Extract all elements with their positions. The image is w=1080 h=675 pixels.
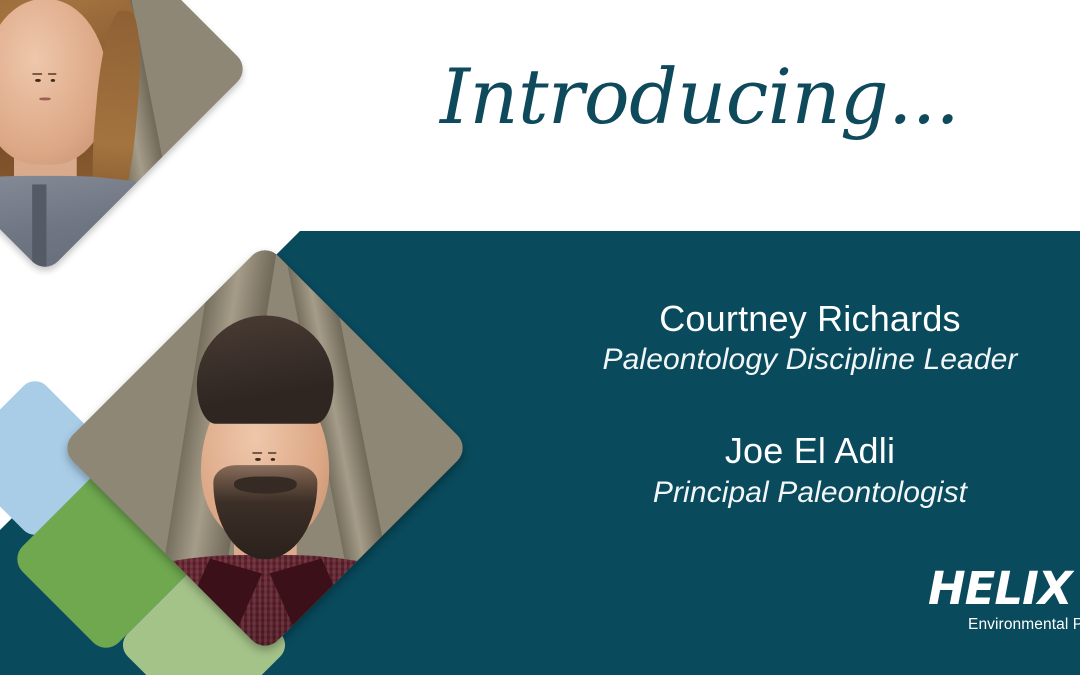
eye (270, 457, 275, 460)
person-job-title: Principal Paleontologist (560, 475, 1060, 511)
eye (35, 78, 40, 81)
person-entry-joe-el-adli: Joe El Adli Principal Paleontologist (560, 430, 1060, 510)
eyebrow (48, 73, 57, 75)
shirt-placket (33, 185, 47, 274)
eye (50, 78, 55, 81)
slide-headline: Introducing... (440, 56, 890, 138)
eyebrow (268, 452, 277, 454)
person-name: Courtney Richards (560, 298, 1060, 340)
slide-canvas: Introducing... Courtney Richards Paleont… (0, 0, 1080, 675)
helix-logo: HELIX Environmental Pl (928, 566, 1080, 633)
eye (255, 457, 260, 460)
helix-tagline: Environmental Pl (968, 617, 1080, 633)
person-entry-courtney-richards: Courtney Richards Paleontology Disciplin… (560, 298, 1060, 378)
eyebrow (253, 452, 262, 454)
hair (197, 316, 333, 423)
portrait-photo-inner (0, 0, 250, 274)
person-job-title: Paleontology Discipline Leader (560, 342, 1060, 378)
person-name: Joe El Adli (560, 430, 1060, 472)
portrait-photo-courtney-richards (0, 0, 250, 274)
mustache (234, 477, 296, 494)
person-figure (0, 0, 250, 274)
mouth (39, 98, 51, 101)
helix-wordmark: HELIX (928, 566, 1080, 611)
portrait-scene (0, 0, 250, 274)
people-text-block: Courtney Richards Paleontology Disciplin… (560, 298, 1060, 511)
eyebrow (33, 73, 42, 75)
